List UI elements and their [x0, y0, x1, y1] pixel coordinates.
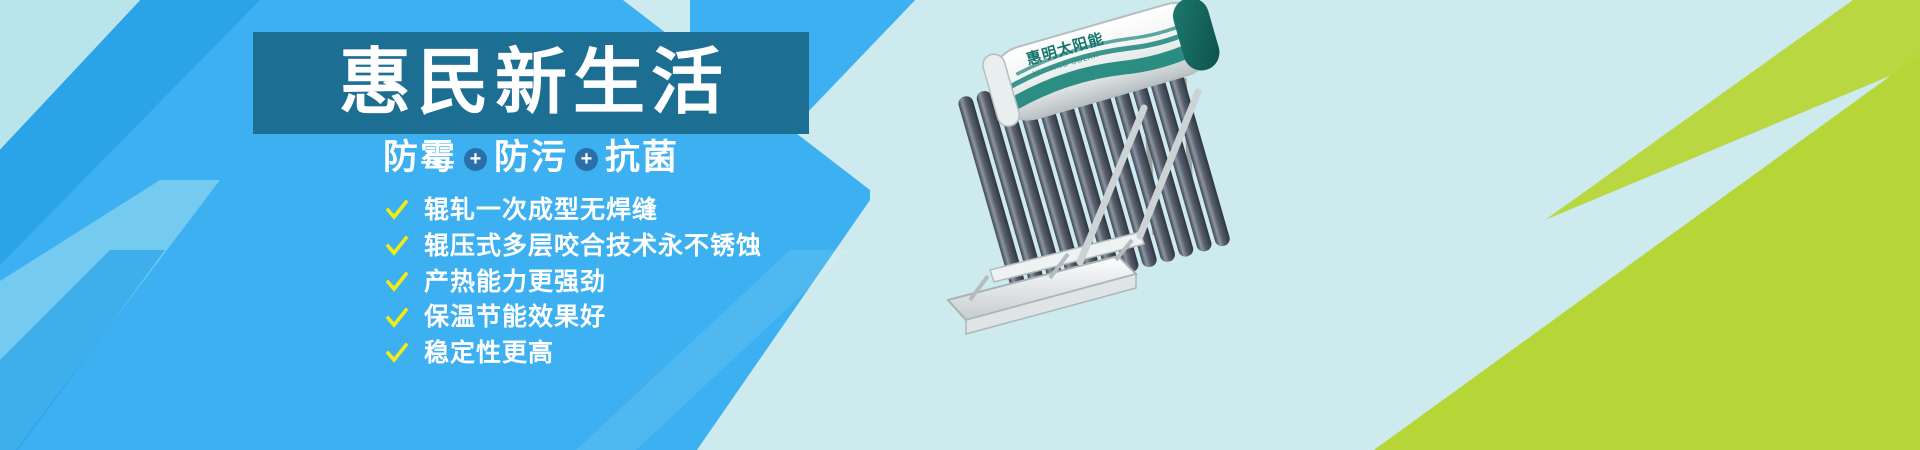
- feature-list: 辊轧一次成型无焊缝 辊压式多层咬合技术永不锈蚀 产热能力更强劲 保温节能效果好: [386, 196, 762, 368]
- check-icon: [386, 342, 408, 364]
- plus-icon-glyph: +: [470, 149, 482, 169]
- promo-banner: 惠明太阳能 HUIMING SOLAR 惠民新生活 防霉 + 防污 + 抗菌 辊…: [0, 0, 1920, 450]
- list-item-label: 保温节能效果好: [424, 303, 606, 332]
- list-item-label: 产热能力更强劲: [424, 268, 606, 297]
- subtitle-part-1: 防霉: [383, 140, 457, 175]
- plus-icon: +: [575, 148, 598, 171]
- list-item: 稳定性更高: [386, 339, 762, 368]
- list-item: 保温节能效果好: [386, 303, 762, 332]
- banner-content: 惠民新生活 防霉 + 防污 + 抗菌 辊轧一次成型无焊缝 辊压式多层咬合技术永不…: [0, 0, 1000, 450]
- plus-icon: +: [464, 148, 487, 171]
- subtitle-row: 防霉 + 防污 + 抗菌: [253, 140, 809, 175]
- check-icon: [386, 235, 408, 257]
- list-item: 辊压式多层咬合技术永不锈蚀: [386, 232, 762, 261]
- list-item-label: 辊轧一次成型无焊缝: [424, 196, 658, 225]
- page-title: 惠民新生活: [333, 47, 729, 119]
- check-icon: [386, 307, 408, 329]
- list-item-label: 稳定性更高: [424, 339, 554, 368]
- list-item: 辊轧一次成型无焊缝: [386, 196, 762, 225]
- subtitle-part-3: 抗菌: [605, 140, 679, 175]
- subtitle-part-2: 防污: [494, 140, 568, 175]
- title-box: 惠民新生活: [253, 32, 809, 134]
- check-icon: [386, 199, 408, 221]
- check-icon: [386, 271, 408, 293]
- plus-icon-glyph: +: [581, 149, 593, 169]
- list-item-label: 辊压式多层咬合技术永不锈蚀: [424, 232, 762, 261]
- list-item: 产热能力更强劲: [386, 268, 762, 297]
